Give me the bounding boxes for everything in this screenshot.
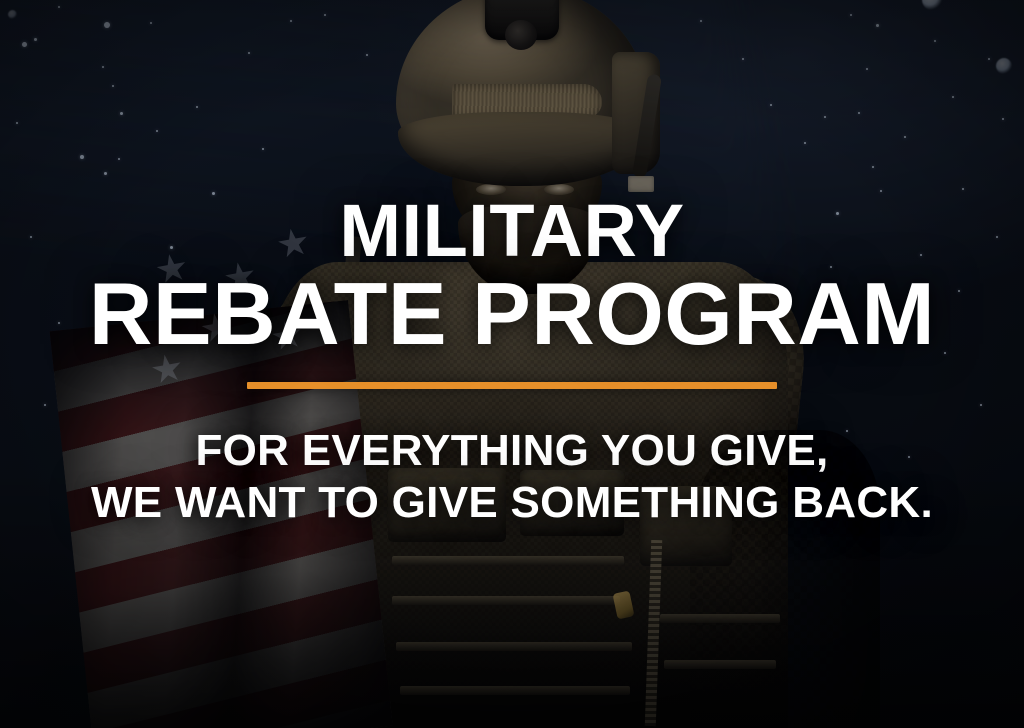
- headline-block: MILITARY REBATE PROGRAM: [89, 196, 935, 389]
- subheadline: FOR EVERYTHING YOU GIVE, WE WANT TO GIVE…: [91, 425, 933, 529]
- banner-content: MILITARY REBATE PROGRAM FOR EVERYTHING Y…: [0, 0, 1024, 728]
- headline-line-2: REBATE PROGRAM: [89, 272, 935, 356]
- accent-divider: [247, 382, 777, 389]
- headline-line-1: MILITARY: [89, 196, 935, 266]
- subheadline-line-2: WE WANT TO GIVE SOMETHING BACK.: [91, 477, 933, 529]
- military-rebate-banner: MILITARY REBATE PROGRAM FOR EVERYTHING Y…: [0, 0, 1024, 728]
- page-title: MILITARY REBATE PROGRAM: [89, 196, 935, 356]
- subheadline-line-1: FOR EVERYTHING YOU GIVE,: [91, 425, 933, 477]
